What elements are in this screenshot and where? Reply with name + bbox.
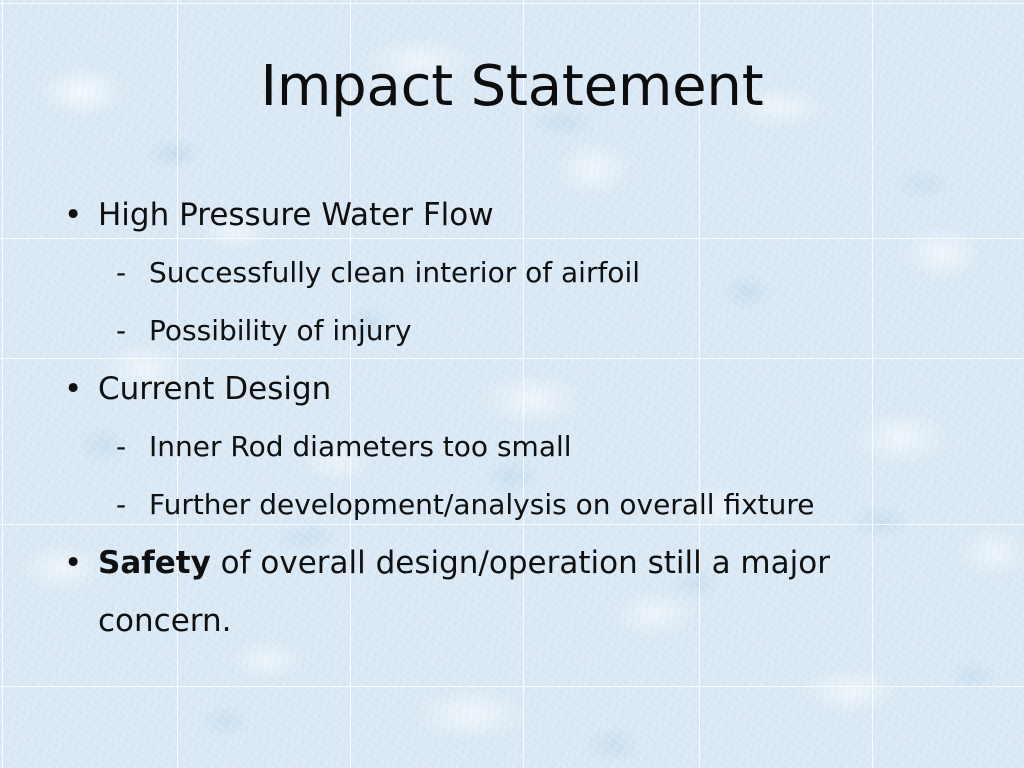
slide-content: Impact Statement • High Pressure Water F… xyxy=(0,0,1024,768)
bullet-item-label: Inner Rod diameters too small xyxy=(149,430,572,463)
dash-icon: - xyxy=(116,244,126,302)
bullet-item-level1: • Current Design xyxy=(58,360,984,418)
bullet-item-label: Further development/analysis on overall … xyxy=(149,488,815,521)
bullet-item-level2: - Possibility of injury xyxy=(58,302,984,360)
bullet-dot-icon: • xyxy=(64,186,82,244)
bullet-item-label-line1: Safety of overall design/operation still… xyxy=(98,534,984,592)
dash-icon: - xyxy=(116,418,126,476)
bullet-dot-icon: • xyxy=(64,360,82,418)
bullet-item-label: Current Design xyxy=(98,371,331,407)
bullet-item-label: Possibility of injury xyxy=(149,314,412,347)
bullet-dot-icon: • xyxy=(64,534,82,592)
bullet-list: • High Pressure Water Flow - Successfull… xyxy=(58,186,984,650)
bullet-item-level2: - Successfully clean interior of airfoil xyxy=(58,244,984,302)
bullet-item-label: High Pressure Water Flow xyxy=(98,197,494,233)
bullet-item-level1: • Safety of overall design/operation sti… xyxy=(58,534,984,650)
bullet-group: • Safety of overall design/operation sti… xyxy=(58,534,984,650)
bullet-item-label: Successfully clean interior of airfoil xyxy=(149,256,640,289)
dash-icon: - xyxy=(116,476,126,534)
bullet-item-level2: - Inner Rod diameters too small xyxy=(58,418,984,476)
bullet-item-level1: • High Pressure Water Flow xyxy=(58,186,984,244)
presentation-slide: Impact Statement • High Pressure Water F… xyxy=(0,0,1024,768)
emphasis-safety: Safety xyxy=(98,545,211,581)
bullet-item-level2: - Further development/analysis on overal… xyxy=(58,476,984,534)
bullet-group: • High Pressure Water Flow - Successfull… xyxy=(58,186,984,360)
bullet-item-label-line2: concern. xyxy=(98,592,984,650)
bullet-group: • Current Design - Inner Rod diameters t… xyxy=(58,360,984,534)
slide-title: Impact Statement xyxy=(0,58,1024,117)
bullet-item-label-rest: of overall design/operation still a majo… xyxy=(211,545,830,581)
dash-icon: - xyxy=(116,302,126,360)
